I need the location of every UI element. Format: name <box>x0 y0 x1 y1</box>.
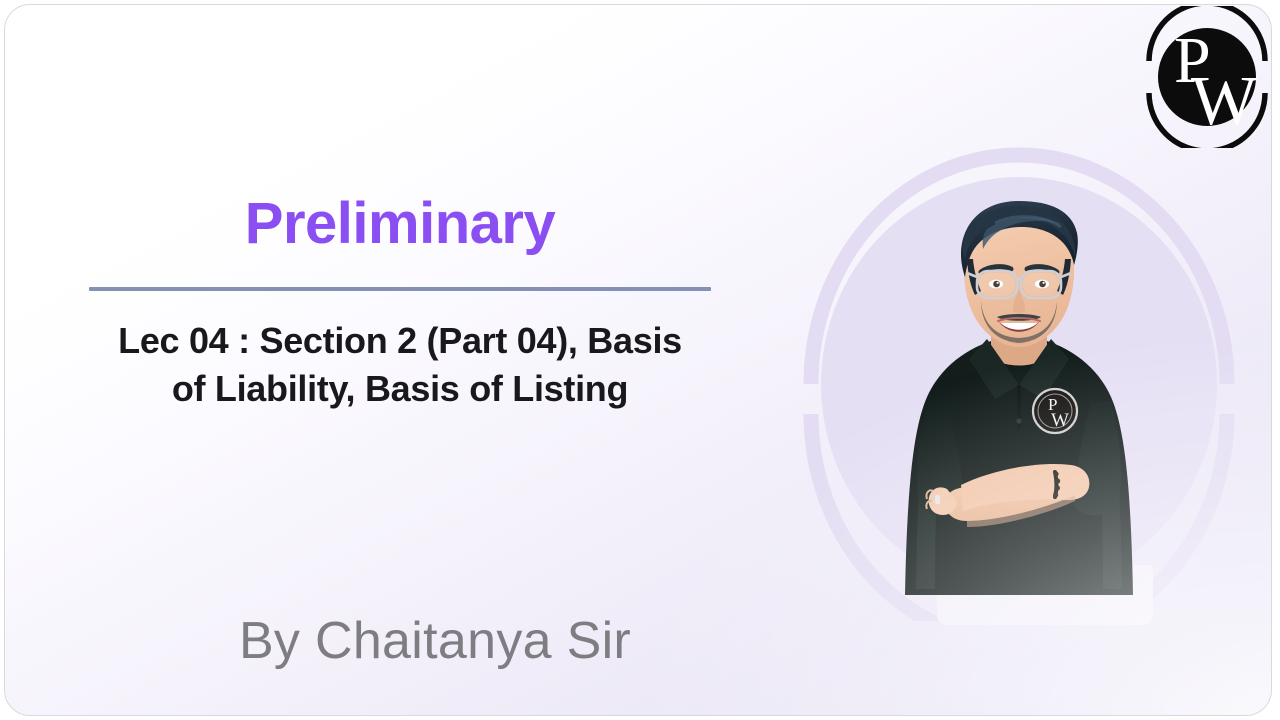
presenter-name: By Chaitanya Sir <box>5 615 865 667</box>
slide-card: P W <box>4 4 1272 716</box>
pw-logo-letter-w: W <box>1191 63 1257 140</box>
lecture-title-line-1: Lec 04 : Section 2 (Part 04), Basis <box>20 317 780 365</box>
slide-eyebrow: Preliminary <box>5 195 795 253</box>
lecture-title-slide: P W <box>0 0 1280 720</box>
svg-text:W: W <box>1051 410 1069 431</box>
lecture-title: Lec 04 : Section 2 (Part 04), Basis of L… <box>20 317 780 413</box>
title-text-block: Preliminary Lec 04 : Section 2 (Part 04)… <box>5 195 795 413</box>
pw-logo-icon: P W <box>1136 6 1278 148</box>
instructor-photo: P W <box>869 189 1169 595</box>
instructor-portrait-group: P W <box>795 147 1243 621</box>
lecture-title-line-2: of Liability, Basis of Listing <box>20 365 780 413</box>
title-divider <box>89 287 711 291</box>
